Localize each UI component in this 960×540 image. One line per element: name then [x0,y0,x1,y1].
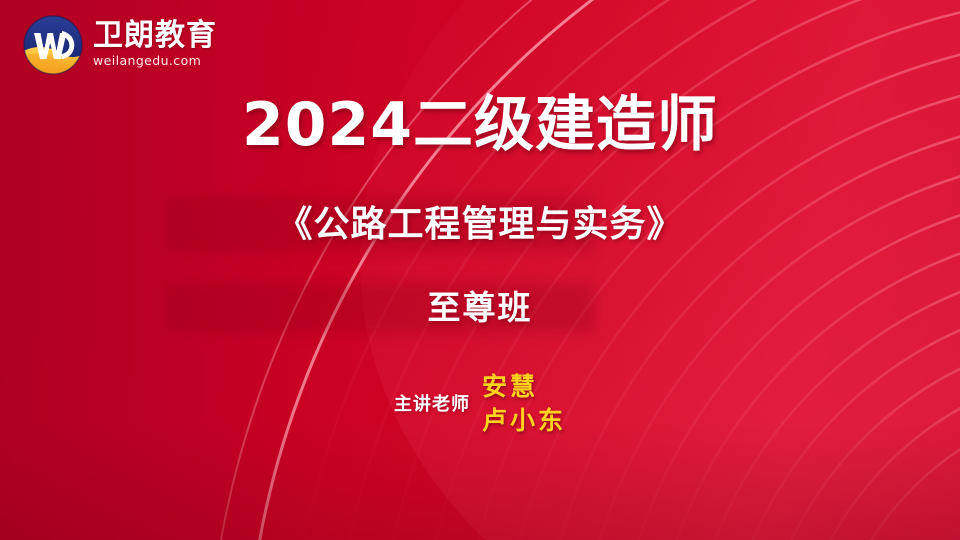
course-tier-label: 至尊班 [0,288,960,328]
slide-content: 2024二级建造师 《公路工程管理与实务》 至尊班 主讲老师 安慧 卢小东 [0,0,960,540]
course-title-slide: 卫朗教育 weilangedu.com 2024二级建造师 《公路工程管理与实务… [0,0,960,540]
page-title: 2024二级建造师 [0,92,960,159]
instructor-name: 卢小东 [482,406,566,436]
instructor-label: 主讲老师 [394,390,470,418]
instructor-name: 安慧 [482,372,566,402]
instructor-name-list: 安慧 卢小东 [482,372,566,435]
course-subject-title: 《公路工程管理与实务》 [0,203,960,246]
instructor-block: 主讲老师 安慧 卢小东 [0,372,960,435]
